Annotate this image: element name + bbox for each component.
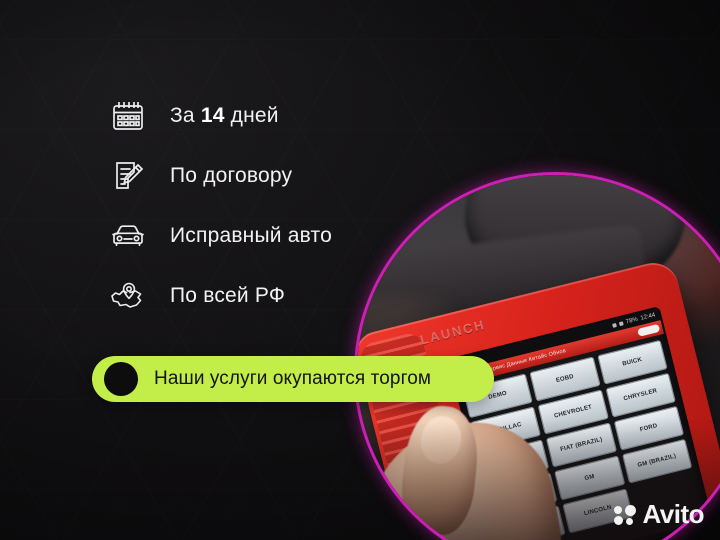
avito-wordmark: Avito <box>642 499 704 530</box>
clock-label: 12:44 <box>640 312 656 321</box>
feature-label: За 14 дней <box>170 104 279 128</box>
avito-dots-icon <box>614 505 636 525</box>
feature-list: За 14 дней По договору <box>108 86 408 326</box>
ad-banner: LAUNCH 78% 12:44 Вернуть Сервис Данные К… <box>0 0 720 540</box>
feature-item-term: За 14 дней <box>108 86 408 146</box>
promo-banner[interactable]: Наши услуги окупаются торгом <box>92 356 494 402</box>
feature-item-contract: По договору <box>108 146 408 206</box>
wifi-icon <box>619 321 624 326</box>
tool-brand-label: LAUNCH <box>419 317 488 348</box>
signal-icon <box>612 323 617 328</box>
feature-item-coverage: По всей РФ <box>108 266 408 326</box>
promo-banner-label: Наши услуги окупаются торгом <box>154 368 431 390</box>
car-front-icon <box>108 216 148 256</box>
russia-map-pin-icon <box>108 276 148 316</box>
battery-percent: 78% <box>625 317 638 326</box>
avito-watermark: Avito <box>614 499 704 530</box>
feature-label: По договору <box>170 164 292 188</box>
feature-item-car: Исправный авто <box>108 206 408 266</box>
feature-label: Исправный авто <box>170 224 332 248</box>
contract-pen-icon <box>108 156 148 196</box>
bullet-dot-icon <box>104 362 138 396</box>
calendar-icon <box>108 96 148 136</box>
feature-label: По всей РФ <box>170 284 285 308</box>
